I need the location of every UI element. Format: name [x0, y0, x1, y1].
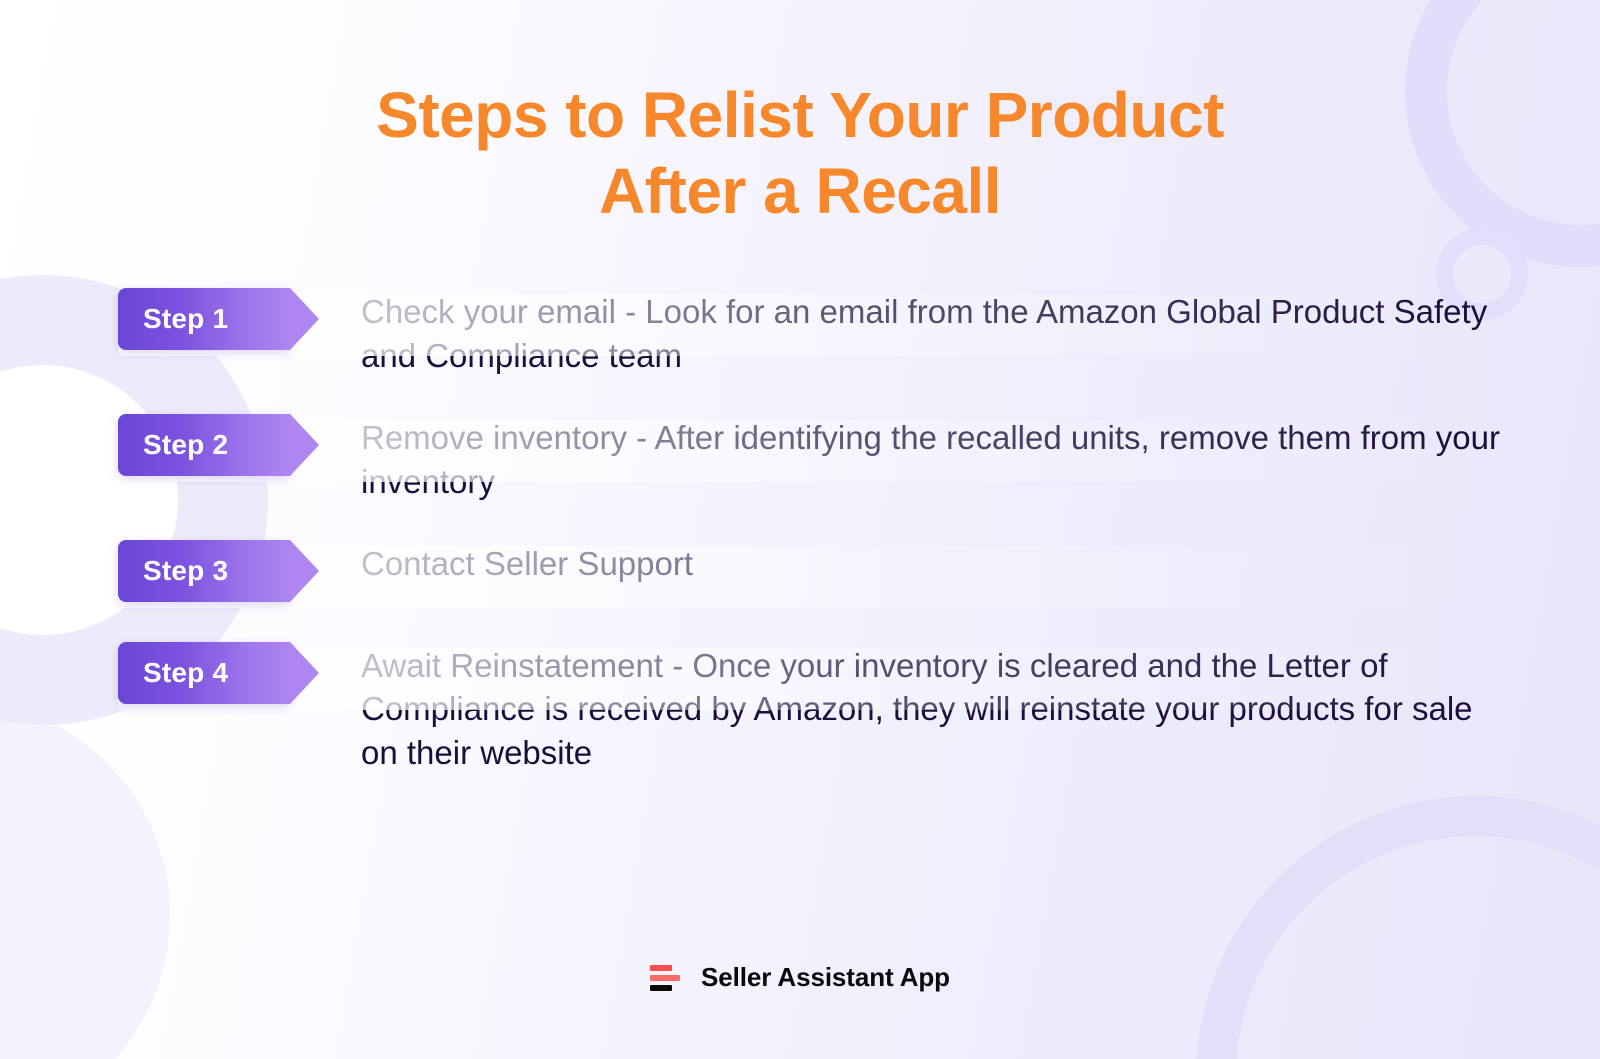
step-badge-3: Step 3	[118, 540, 290, 602]
step-item-4: Step 4 Await Reinstatement - Once your i…	[0, 642, 1600, 776]
step-description-3: Contact Seller Support	[361, 540, 1510, 586]
step-description-1: Check your email - Look for an email fro…	[361, 288, 1510, 378]
logo-bar-bottom	[650, 985, 672, 991]
step-badge-4: Step 4	[118, 642, 290, 704]
step-badge-1: Step 1	[118, 288, 290, 350]
page-title-line-1: Steps to Relist Your Product	[0, 78, 1600, 154]
step-description-2: Remove inventory - After identifying the…	[361, 414, 1510, 504]
infographic-poster: Steps to Relist Your Product After a Rec…	[0, 0, 1600, 1059]
page-title-line-2: After a Recall	[0, 154, 1600, 230]
logo-bar-top	[650, 965, 672, 971]
step-item-1: Step 1 Check your email - Look for an em…	[0, 288, 1600, 378]
step-item-2: Step 2 Remove inventory - After identify…	[0, 414, 1600, 504]
brand-footer: Seller Assistant App	[0, 962, 1600, 993]
step-badge-2: Step 2	[118, 414, 290, 476]
logo-bar-middle	[650, 975, 680, 981]
step-item-3: Step 3 Contact Seller Support	[0, 540, 1600, 606]
step-badge-label: Step 2	[143, 429, 228, 461]
step-badge-label: Step 3	[143, 555, 228, 587]
page-title: Steps to Relist Your Product After a Rec…	[0, 78, 1600, 229]
step-badge-label: Step 1	[143, 303, 228, 335]
step-badge-label: Step 4	[143, 657, 228, 689]
brand-name: Seller Assistant App	[701, 962, 950, 993]
steps-list: Step 1 Check your email - Look for an em…	[0, 288, 1600, 811]
three-bars-logo-icon	[650, 965, 680, 991]
background-ring-bottom-right	[1196, 796, 1600, 1059]
step-description-4: Await Reinstatement - Once your inventor…	[361, 642, 1510, 776]
